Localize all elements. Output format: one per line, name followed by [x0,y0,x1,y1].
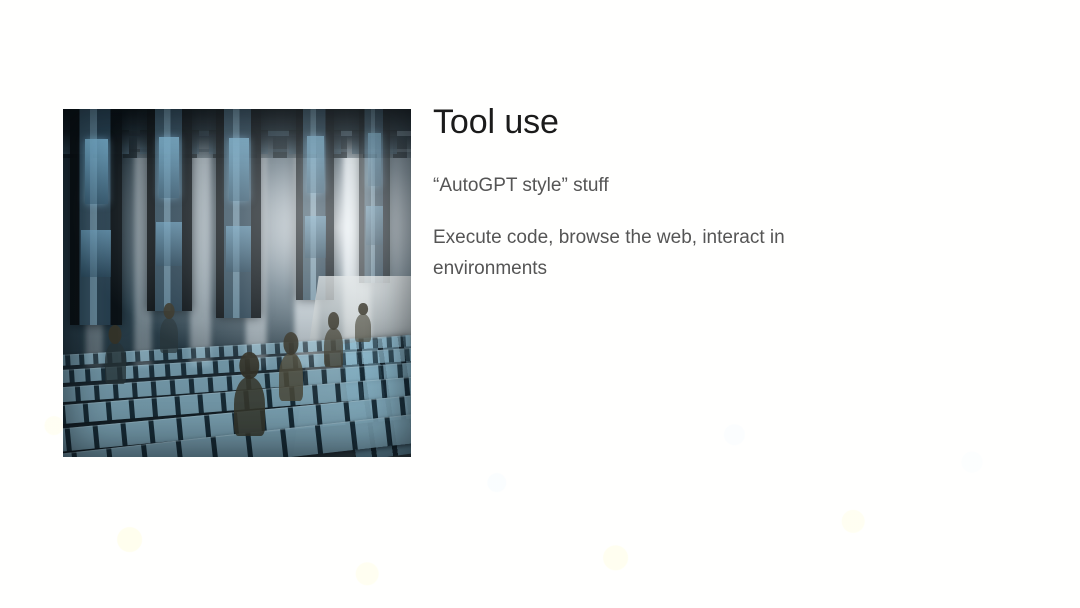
slide-title: Tool use [433,100,973,144]
slide-body-text: Execute code, browse the web, interact i… [433,222,863,284]
slide-image [63,109,411,457]
slide-text-column: Tool use “AutoGPT style” stuff Execute c… [433,100,973,284]
image-vignette [63,109,411,457]
slide-subtitle: “AutoGPT style” stuff [433,172,973,200]
slide-canvas: Tool use “AutoGPT style” stuff Execute c… [0,0,1080,608]
control-room-illustration [63,109,411,457]
